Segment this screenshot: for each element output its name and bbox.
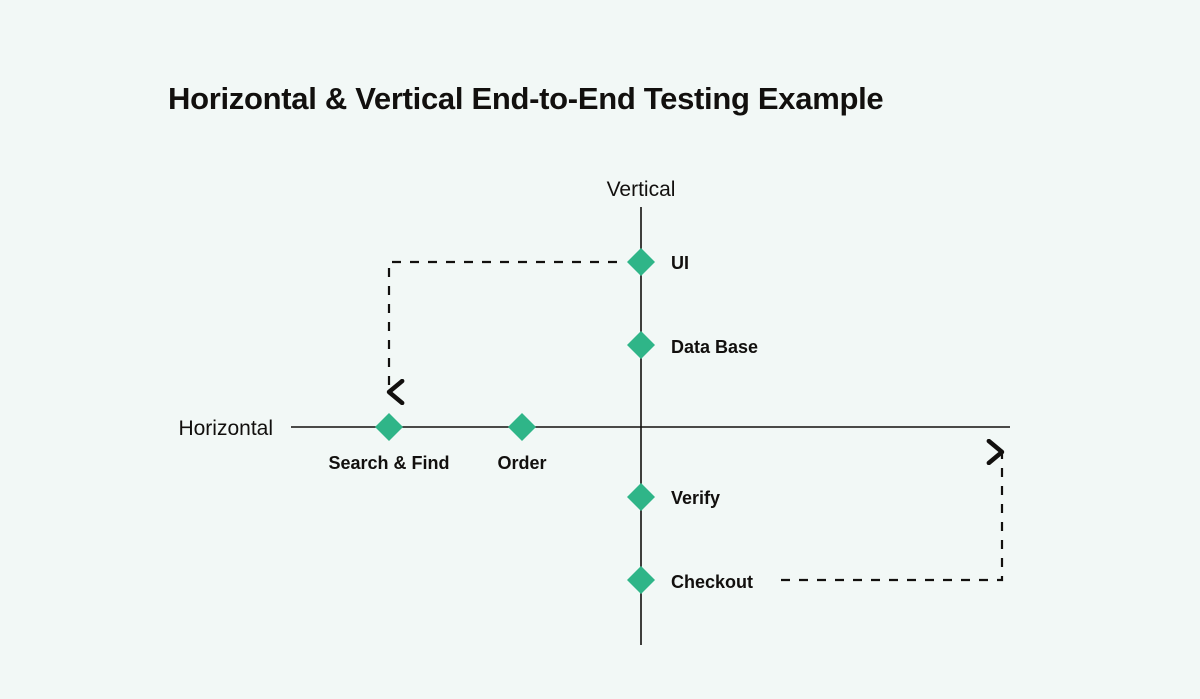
node-ui[interactable]: UI <box>625 246 689 278</box>
node-order[interactable]: Order <box>497 411 546 473</box>
connector-ui-to-search-and-find <box>389 262 617 392</box>
node-verify-label: Verify <box>671 488 720 508</box>
vertical-axis-label: Vertical <box>607 178 676 201</box>
connector-checkout-to-horizontal-axis <box>781 452 1002 580</box>
end-to-end-testing-diagram: Vertical Horizontal UI Data Base Search … <box>0 0 1200 699</box>
diagram-canvas: Horizontal & Vertical End-to-End Testing… <box>0 0 1200 699</box>
node-order-label: Order <box>497 453 546 473</box>
node-data-base-label: Data Base <box>671 337 758 357</box>
dashed-path-ui-to-search <box>389 262 617 392</box>
node-search-and-find[interactable]: Search & Find <box>328 411 449 473</box>
node-data-base[interactable]: Data Base <box>625 329 758 361</box>
node-ui-label: UI <box>671 253 689 273</box>
node-checkout-label: Checkout <box>671 572 753 592</box>
node-search-and-find-label: Search & Find <box>328 453 449 473</box>
horizontal-axis-label: Horizontal <box>178 417 273 440</box>
node-checkout[interactable]: Checkout <box>625 564 753 596</box>
node-verify[interactable]: Verify <box>625 481 720 513</box>
dashed-path-checkout-to-axis <box>781 452 1002 580</box>
